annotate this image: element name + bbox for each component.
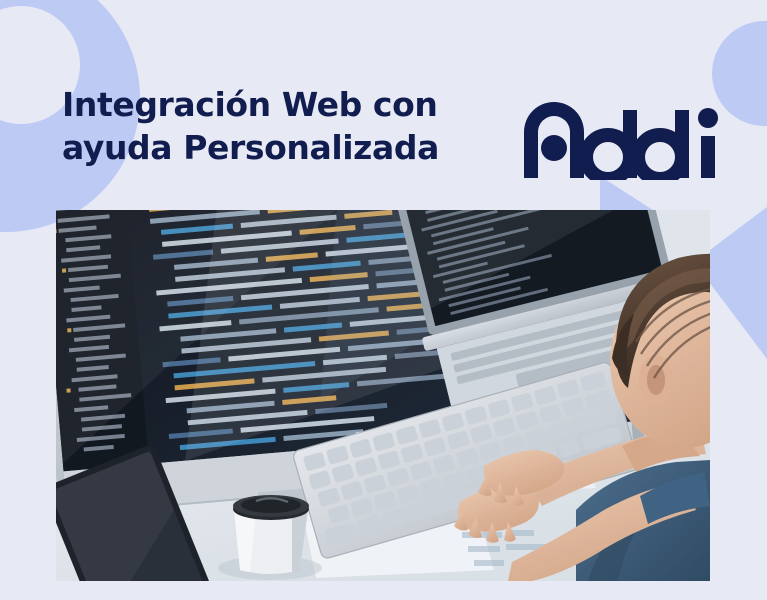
addi-logo: Addi logo	[522, 96, 718, 180]
developer-at-desk-photo: Persona programando frente a un iMac con…	[56, 210, 710, 581]
circle-top-right-decoration	[712, 21, 767, 126]
diagonal-band-mask-decoration	[700, 452, 767, 600]
addi-logo-icon: Addi logo	[522, 96, 718, 180]
banner-heading: Integración Web con ayuda Personalizada	[62, 84, 502, 170]
triangle-middle-right-decoration	[600, 176, 656, 212]
addi-banner: Integración Web con ayuda Personalizada …	[0, 0, 767, 600]
hero-photo: Persona programando frente a un iMac con…	[56, 210, 710, 581]
